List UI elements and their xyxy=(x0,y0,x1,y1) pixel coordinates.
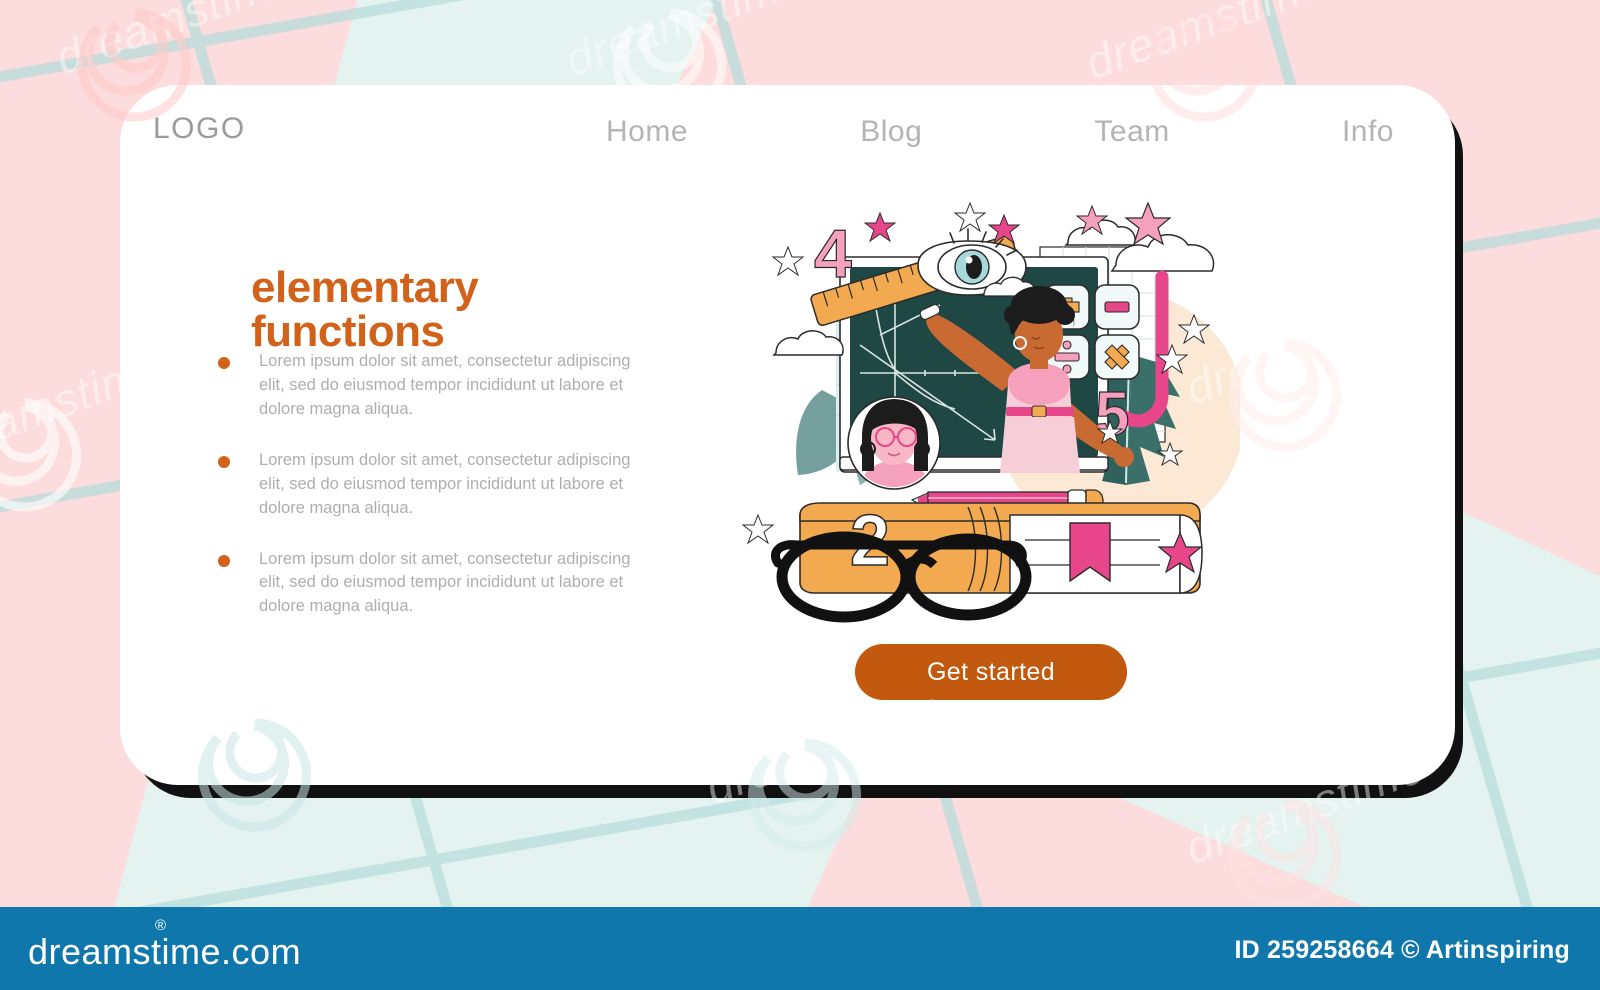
hero-illustration: 4 xyxy=(740,185,1240,625)
main-navigation: Home Blog Team Info xyxy=(600,113,1400,151)
image-credit: ID 259258664 © Artinspiring xyxy=(1234,936,1570,965)
bullet-text: Lorem ipsum dolor sit amet, consectetur … xyxy=(259,449,638,521)
list-item: Lorem ipsum dolor sit amet, consectetur … xyxy=(218,548,638,620)
student-avatar-icon xyxy=(848,397,942,491)
screenshot-root: LOGO Home Blog Team Info elementary func… xyxy=(0,0,1600,990)
cloud-icon xyxy=(774,331,843,355)
nav-item-home[interactable]: Home xyxy=(600,113,694,151)
list-item: Lorem ipsum dolor sit amet, consectetur … xyxy=(218,449,638,521)
number-four-icon: 4 xyxy=(814,216,852,292)
nav-item-blog[interactable]: Blog xyxy=(854,113,928,151)
nav-item-info[interactable]: Info xyxy=(1336,113,1400,151)
minus-operator-icon xyxy=(1105,302,1129,312)
dreamstime-logo: dreamstime.com xyxy=(28,931,301,973)
hero-card: LOGO Home Blog Team Info elementary func… xyxy=(120,85,1455,785)
bullet-text: Lorem ipsum dolor sit amet, consectetur … xyxy=(259,350,638,422)
stock-footer-bar: dreamstime.com ® ID 259258664 © Artinspi… xyxy=(0,907,1600,990)
list-item: Lorem ipsum dolor sit amet, consectetur … xyxy=(218,350,638,422)
bullet-text: Lorem ipsum dolor sit amet, consectetur … xyxy=(259,548,638,620)
headline-line-1: elementary xyxy=(251,263,478,312)
get-started-button[interactable]: Get started xyxy=(855,644,1127,700)
site-logo[interactable]: LOGO xyxy=(153,112,246,146)
page-title: elementary functions xyxy=(251,266,671,354)
bullet-dot-icon xyxy=(218,357,230,369)
bullet-dot-icon xyxy=(218,555,230,567)
bullet-dot-icon xyxy=(218,456,230,468)
registered-mark-icon: ® xyxy=(155,917,166,934)
feature-bullet-list: Lorem ipsum dolor sit amet, consectetur … xyxy=(218,350,638,646)
star-icon xyxy=(955,203,985,231)
nav-item-team[interactable]: Team xyxy=(1088,113,1175,151)
star-icon xyxy=(743,515,773,543)
star-icon xyxy=(865,213,895,241)
star-icon xyxy=(773,247,803,275)
